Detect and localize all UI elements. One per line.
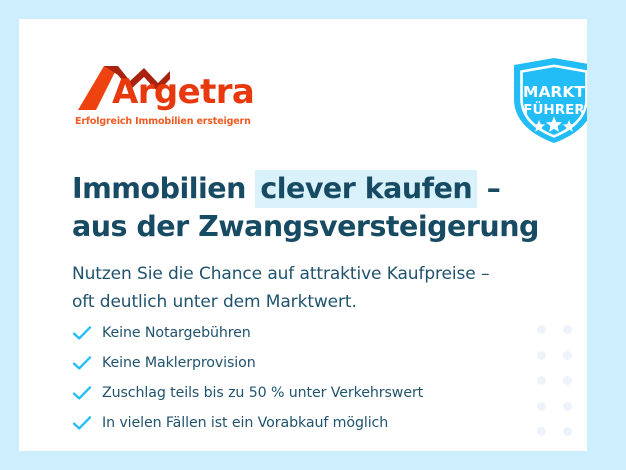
shield-icon: MARKT FÜHRER [508, 55, 587, 145]
argetra-logo: Argetra Erfolgreich Immobilien ersteiger… [74, 64, 274, 134]
argetra-tagline: Erfolgreich Immobilien ersteigern [75, 116, 251, 127]
headline-line1-post: – [477, 172, 500, 205]
list-item: In vielen Fällen ist ein Vorabkauf mögli… [72, 408, 532, 438]
decoration-dot [537, 325, 546, 334]
headline-line1-pre: Immobilien [72, 172, 255, 205]
decoration-dot [563, 402, 572, 411]
check-icon [72, 355, 102, 371]
subheading-line2: oft deutlich unter dem Marktwert. [72, 288, 552, 316]
banner-card: Argetra Erfolgreich Immobilien ersteiger… [19, 19, 587, 451]
list-item: Keine Notargebühren [72, 318, 532, 348]
subheading: Nutzen Sie die Chance auf attraktive Kau… [72, 260, 552, 316]
benefit-label: Keine Notargebühren [102, 325, 251, 341]
promo-banner: Argetra Erfolgreich Immobilien ersteiger… [0, 0, 626, 470]
badge-line1: MARKT [523, 83, 585, 101]
benefit-label: In vielen Fällen ist ein Vorabkauf mögli… [102, 415, 388, 431]
benefits-list: Keine Notargebühren Keine Maklerprovisio… [72, 318, 532, 438]
headline-line2: aus der Zwangsversteigerung [72, 208, 542, 246]
argetra-wordmark: Argetra [112, 75, 254, 109]
list-item: Keine Maklerprovision [72, 348, 532, 378]
decoration-dot [537, 376, 546, 385]
decoration-dot [537, 402, 546, 411]
decoration-dot [563, 351, 572, 360]
decoration-dot [563, 325, 572, 334]
benefit-label: Zuschlag teils bis zu 50 % unter Verkehr… [102, 385, 423, 401]
decoration-dot [537, 427, 546, 436]
decoration-dot [563, 376, 572, 385]
benefit-label: Keine Maklerprovision [102, 355, 256, 371]
headline-highlight: clever kaufen [255, 170, 477, 208]
markt-fuehrer-badge: MARKT FÜHRER [508, 55, 587, 145]
badge-line2: FÜHRER [523, 100, 585, 118]
decoration-dot [563, 427, 572, 436]
check-icon [72, 415, 102, 431]
check-icon [72, 385, 102, 401]
subheading-line1: Nutzen Sie die Chance auf attraktive Kau… [72, 260, 552, 288]
list-item: Zuschlag teils bis zu 50 % unter Verkehr… [72, 378, 532, 408]
decoration-dot [537, 351, 546, 360]
headline: Immobilien clever kaufen – aus der Zwang… [72, 170, 542, 246]
check-icon [72, 325, 102, 341]
